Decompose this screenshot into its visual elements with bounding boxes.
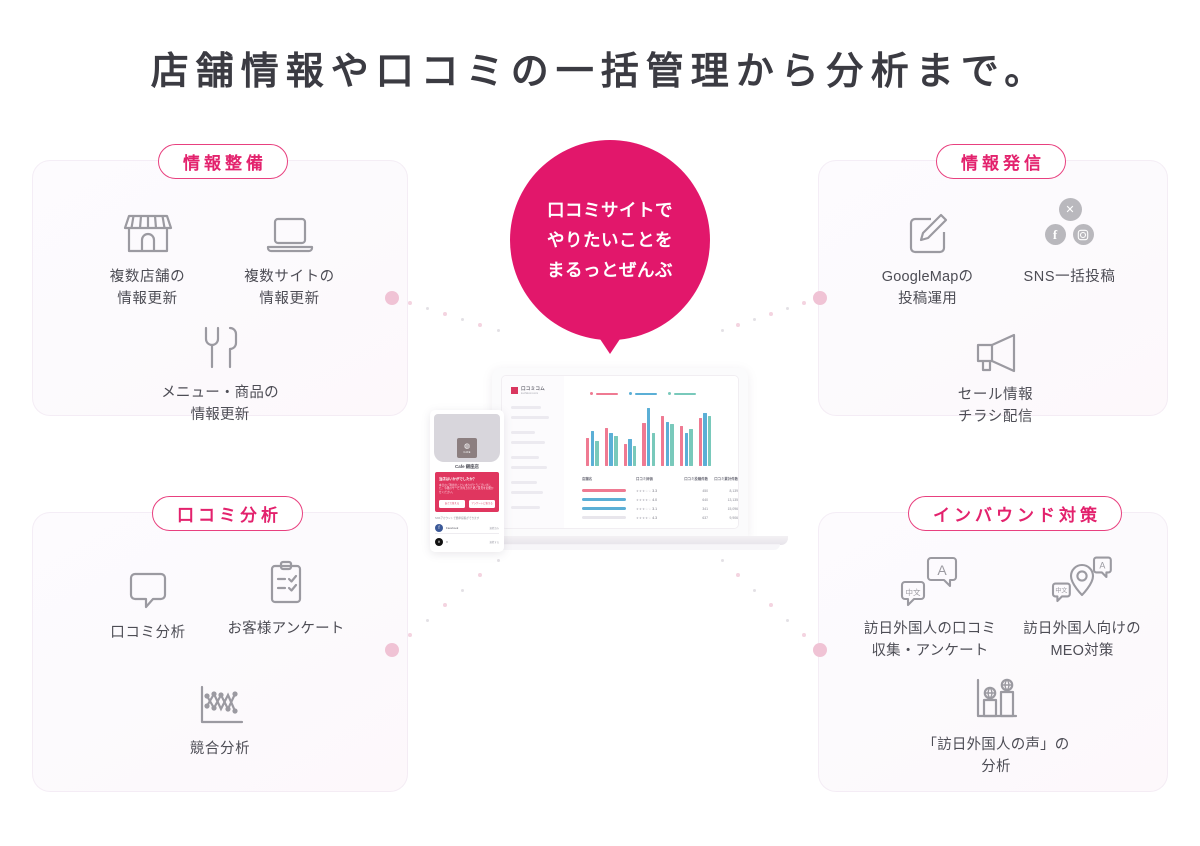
- bar: [609, 433, 612, 466]
- bar: [633, 446, 636, 466]
- phone-sns-row[interactable]: ✕ X 連携する: [435, 536, 499, 547]
- feature-label-line2: 情報更新: [117, 291, 177, 307]
- bar-group: [586, 431, 599, 466]
- svg-text:A: A: [1099, 561, 1105, 571]
- social-icons-group: ✕ f: [1033, 198, 1107, 254]
- table-cell-posts: 450: [676, 489, 708, 493]
- sns-name: Facebook: [446, 526, 486, 530]
- sidebar-nav-line[interactable]: [511, 491, 543, 494]
- connector-dot: [753, 318, 756, 321]
- instagram-icon: [1073, 224, 1094, 245]
- badge-inbound-measures: インバウンド対策: [908, 496, 1122, 531]
- legend-dot: [590, 392, 593, 395]
- cup-icon: ◍: [464, 443, 470, 450]
- feature-label-line1: 複数店舗の: [110, 269, 186, 285]
- dashboard-table: 店舗名 口コミ評価 口コミ投稿件数 口コミ累計件数 ★★★☆☆ 3.34508,…: [582, 476, 738, 522]
- pencil-square-icon: [860, 200, 995, 256]
- table-row[interactable]: ★★★☆☆ 3.34508,139: [582, 486, 738, 495]
- feature-googlemap-posting: GoogleMapの 投稿運用: [860, 200, 995, 311]
- legend-dot: [668, 392, 671, 395]
- connector-node: [385, 291, 399, 305]
- logo-mark: [511, 387, 518, 394]
- scatter-chart-icon: [152, 672, 288, 728]
- bar: [628, 439, 631, 466]
- bar: [689, 429, 692, 466]
- table-cell-posts: 637: [676, 516, 708, 520]
- map-pin-translate-icon: A 中文: [1008, 552, 1156, 608]
- table-col-header: 口コミ投稿件数: [676, 476, 708, 481]
- table-col-header: 店舗名: [582, 476, 636, 481]
- bar: [685, 433, 688, 466]
- sns-status: 連携する: [489, 540, 499, 544]
- bar-group: [605, 428, 618, 466]
- table-cell-store: [582, 516, 636, 519]
- bar: [614, 436, 617, 466]
- bar: [670, 424, 673, 466]
- feature-label-line1: 口コミ分析: [82, 622, 214, 644]
- feature-sale-flyer: セール情報 チラシ配信: [928, 318, 1063, 429]
- feature-multi-site: 複数サイトの 情報更新: [222, 200, 357, 311]
- table-col-header: 口コミ累計件数: [708, 476, 738, 481]
- feature-label-line1: セール情報: [958, 387, 1034, 403]
- table-cell-rating: ★★★☆☆ 3.1: [636, 507, 676, 511]
- legend-item: [590, 392, 618, 395]
- bar: [699, 418, 702, 466]
- phone-store-logo: ◍ CAFE: [457, 438, 477, 458]
- store-name-bar: [582, 516, 626, 519]
- table-cell-total: 9,906: [708, 516, 738, 520]
- bar-group: [699, 413, 712, 466]
- connector-dot: [461, 589, 464, 592]
- connector-dot: [478, 573, 482, 577]
- feature-label-line1: 訪日外国人向けの: [1023, 621, 1141, 637]
- logo-subtext: kuchikomi.com: [521, 392, 545, 395]
- connector-node: [813, 291, 827, 305]
- sidebar-nav-line[interactable]: [511, 431, 535, 434]
- bar: [605, 428, 608, 466]
- legend-bar: [635, 393, 657, 395]
- connector-dot: [408, 301, 412, 305]
- bar-group: [624, 439, 637, 466]
- feature-inbound-reviews: A 中文 訪日外国人の口コミ 収集・アンケート: [856, 552, 1004, 663]
- page-title: 店舗情報や口コミの一括管理から分析まで。: [0, 40, 1200, 95]
- feature-label-line2: 情報更新: [259, 291, 319, 307]
- badge-review-analysis: 口コミ分析: [152, 496, 303, 531]
- table-cell-total: 13,135: [708, 498, 738, 502]
- phone-mockup: ◍ CAFE Cafe 銀座店 当店はいかがでしたか？ 本日のご利用まことにあり…: [430, 410, 504, 552]
- connector-dot: [497, 329, 500, 332]
- feature-label-line2: MEO対策: [1050, 643, 1113, 659]
- facebook-icon: f: [435, 524, 443, 532]
- chart-bars: [586, 406, 734, 466]
- dashboard-main: 店舗名 口コミ評価 口コミ投稿件数 口コミ累計件数 ★★★☆☆ 3.34508,…: [568, 376, 738, 528]
- connector-dot: [478, 323, 482, 327]
- legend-item: [668, 392, 696, 395]
- feature-multi-store: 複数店舗の 情報更新: [80, 200, 215, 311]
- store-name-bar: [582, 498, 626, 501]
- connector-dot: [786, 307, 789, 310]
- connector-dot: [769, 312, 773, 316]
- bubble-line-1: 口コミサイトで: [547, 200, 673, 220]
- bar: [642, 423, 645, 466]
- cutlery-icon: [150, 316, 290, 372]
- table-cell-total: 8,139: [708, 489, 738, 493]
- infographic-stage: 店舗情報や口コミの一括管理から分析まで。 情報整備 情報発信 口コミ分析 インバ…: [0, 0, 1200, 846]
- svg-text:中文: 中文: [906, 587, 921, 597]
- feature-label-line2: 収集・アンケート: [871, 643, 988, 659]
- feature-inbound-voice-analysis: 「訪日外国人の声」の 分析: [922, 668, 1070, 779]
- bubble-line-2: やりたいことを: [547, 230, 673, 250]
- bar: [624, 444, 627, 466]
- feature-label-line2: チラシ配信: [958, 409, 1033, 425]
- connector-dot: [802, 633, 806, 637]
- storefront-icon: [80, 200, 215, 256]
- legend-dot: [629, 392, 632, 395]
- globe-bar-chart-icon: [922, 668, 1070, 724]
- phone-survey-card: 当店はいかがでしたか？ 本日のご利用まことにありがとうございました。今後のサービ…: [435, 472, 499, 512]
- bar-group: [661, 416, 674, 466]
- badge-info-publishing: 情報発信: [936, 144, 1066, 179]
- badge-info-maintenance: 情報整備: [158, 144, 288, 179]
- survey-description: 本日のご利用まことにありがとうございました。今後のサービス向上のためご意見をお聞…: [439, 484, 495, 496]
- table-cell-rating: ★★★☆☆ 3.3: [636, 489, 676, 493]
- connector-dot: [443, 603, 447, 607]
- table-cell-rating: ★★★★☆ 4.0: [636, 498, 676, 502]
- bar: [703, 413, 706, 466]
- dashboard-logo: 口コミコム kuchikomi.com: [511, 386, 545, 395]
- bar: [595, 441, 598, 466]
- feature-label-line1: 「訪日外国人の声」の: [923, 737, 1070, 753]
- feature-customer-survey: お客様アンケート: [216, 552, 356, 640]
- connector-node: [813, 643, 827, 657]
- table-cell-rating: ★★★★☆ 4.3: [636, 516, 676, 520]
- table-cell-posts: 640: [676, 498, 708, 502]
- legend-bar: [596, 393, 618, 395]
- connector-dot: [753, 589, 756, 592]
- store-name-bar: [582, 507, 626, 510]
- sns-status: 連携済み: [489, 526, 499, 530]
- feature-label-line2: 情報更新: [191, 407, 250, 423]
- phone-sns-note: SNSアカウントで簡単投稿ができます: [435, 516, 479, 520]
- sidebar-nav-line[interactable]: [511, 456, 539, 459]
- table-cell-store: [582, 498, 636, 501]
- feature-menu-product: メニュー・商品の 情報更新: [150, 316, 290, 427]
- dashboard-sidebar: 口コミコム kuchikomi.com: [502, 376, 564, 528]
- bar: [708, 416, 711, 466]
- connector-dot: [426, 307, 429, 310]
- table-cell-posts: 341: [676, 507, 708, 511]
- connector-dot: [443, 312, 447, 316]
- feature-label-line1: メニュー・商品の: [161, 385, 279, 401]
- x-twitter-icon: ✕: [435, 538, 443, 546]
- feature-label-line1: お客様アンケート: [216, 618, 356, 640]
- bar: [647, 408, 650, 466]
- center-speech-bubble: 口コミサイトで やりたいことを まるっとぜんぶ: [510, 140, 710, 340]
- connector-dot: [721, 329, 724, 332]
- sidebar-nav-line[interactable]: [511, 481, 537, 484]
- bar: [586, 438, 589, 466]
- sidebar-nav-line[interactable]: [511, 506, 540, 509]
- feature-label-line1: 競合分析: [152, 738, 288, 760]
- phone-store-name: Cafe 銀座店: [430, 464, 504, 470]
- connector-dot: [769, 603, 773, 607]
- bar: [652, 433, 655, 466]
- sidebar-nav-line[interactable]: [511, 441, 545, 444]
- bar: [661, 416, 664, 466]
- chart-legend: [590, 392, 696, 395]
- svg-text:中文: 中文: [1055, 587, 1067, 595]
- table-row[interactable]: ★★★☆☆ 3.134115,096: [582, 504, 738, 513]
- connector-dot: [426, 619, 429, 622]
- table-cell-store: [582, 507, 636, 510]
- feature-label-line1: 複数サイトの: [244, 269, 335, 285]
- survey-answer-button[interactable]: アンケートに答える: [469, 500, 495, 508]
- phone-sns-row[interactable]: f Facebook 連携済み: [435, 522, 499, 534]
- feature-review-analysis: 口コミ分析: [82, 556, 214, 644]
- table-row[interactable]: ★★★★☆ 4.36379,906: [582, 513, 738, 522]
- feature-competitor-analysis: 競合分析: [152, 672, 288, 760]
- svg-text:A: A: [937, 562, 947, 578]
- facebook-icon: f: [1045, 224, 1066, 245]
- survey-question: 当店はいかがでしたか？: [439, 476, 495, 481]
- speech-bubble-icon: [82, 556, 214, 612]
- feature-label-line1: SNS一括投稿: [1002, 266, 1137, 288]
- bar-group: [642, 408, 655, 466]
- table-col-header: 口コミ評価: [636, 476, 676, 481]
- translate-bubbles-icon: A 中文: [856, 552, 1004, 608]
- survey-later-button[interactable]: あとで答える: [439, 500, 465, 508]
- bar: [666, 422, 669, 466]
- connector-dot: [408, 633, 412, 637]
- feature-label-line1: 訪日外国人の口コミ: [864, 621, 996, 637]
- feature-label-line2: 分析: [981, 759, 1010, 775]
- table-header-row: 店舗名 口コミ評価 口コミ投稿件数 口コミ累計件数: [582, 476, 738, 481]
- feature-sns-bulk-post: ✕ f SNS一括投稿: [1002, 196, 1137, 288]
- sns-name: X: [446, 540, 486, 544]
- bar: [680, 426, 683, 466]
- legend-item: [629, 392, 657, 395]
- legend-bar: [674, 393, 696, 395]
- sidebar-nav-line[interactable]: [511, 406, 541, 409]
- laptop-base-shadow: [460, 544, 780, 550]
- feature-label-line2: 投稿運用: [898, 291, 957, 307]
- bar-group: [680, 426, 693, 466]
- connector-node: [385, 643, 399, 657]
- dashboard-screen: 口コミコム kuchikomi.com 店舗: [502, 376, 738, 528]
- feature-inbound-meo: A 中文 訪日外国人向けの MEO対策: [1008, 552, 1156, 663]
- connector-dot: [786, 619, 789, 622]
- logo-text: 口コミコム: [521, 386, 545, 391]
- table-row[interactable]: ★★★★☆ 4.064013,135: [582, 495, 738, 504]
- laptop-mockup: 口コミコム kuchikomi.com 店舗: [430, 368, 770, 568]
- feature-label-line1: GoogleMapの: [882, 269, 973, 285]
- connector-dot: [802, 301, 806, 305]
- sidebar-nav-line[interactable]: [511, 466, 547, 469]
- bubble-tail: [598, 336, 622, 354]
- connector-dot: [736, 323, 740, 327]
- megaphone-icon: [928, 318, 1063, 374]
- bar: [591, 431, 594, 466]
- table-cell-store: [582, 489, 636, 492]
- bubble-line-3: まるっとぜんぶ: [547, 260, 673, 280]
- connector-dot: [736, 573, 740, 577]
- connector-dot: [461, 318, 464, 321]
- laptop-icon: [222, 200, 357, 256]
- clipboard-check-icon: [216, 552, 356, 608]
- sidebar-nav-line[interactable]: [511, 416, 549, 419]
- x-twitter-icon: ✕: [1059, 198, 1082, 221]
- table-cell-total: 15,096: [708, 507, 738, 511]
- store-name-bar: [582, 489, 626, 492]
